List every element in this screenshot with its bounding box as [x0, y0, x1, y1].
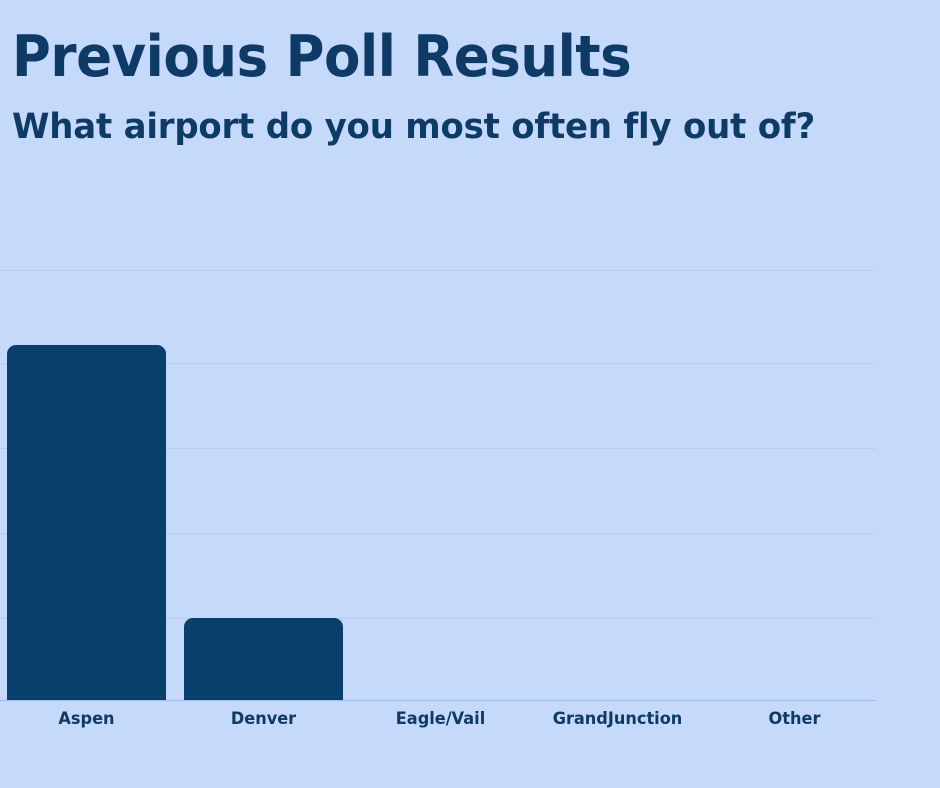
x-tick-denver: Denver [181, 707, 345, 731]
poll-results-card: Previous Poll Results What airport do yo… [0, 0, 940, 788]
bar-slot-denver [177, 270, 350, 700]
x-tick-grandjunction: GrandJunction [535, 707, 699, 731]
x-tick-eagle-vail: Eagle/Vail [358, 707, 522, 731]
x-tick-other: Other [712, 707, 876, 731]
bar-slot-aspen [0, 270, 173, 700]
bar-slot-other [708, 270, 881, 700]
plot-area [0, 270, 876, 700]
x-axis-baseline [0, 700, 876, 701]
bar-slot-eagle-vail [354, 270, 527, 700]
bar-slot-grandjunction [531, 270, 704, 700]
bar-aspen[interactable] [7, 345, 166, 700]
bar-chart: Aspen Denver Eagle/Vail GrandJunction Ot… [0, 0, 940, 788]
bar-denver[interactable] [184, 618, 343, 700]
x-tick-aspen: Aspen [4, 707, 168, 731]
x-axis-labels: Aspen Denver Eagle/Vail GrandJunction Ot… [0, 707, 876, 739]
